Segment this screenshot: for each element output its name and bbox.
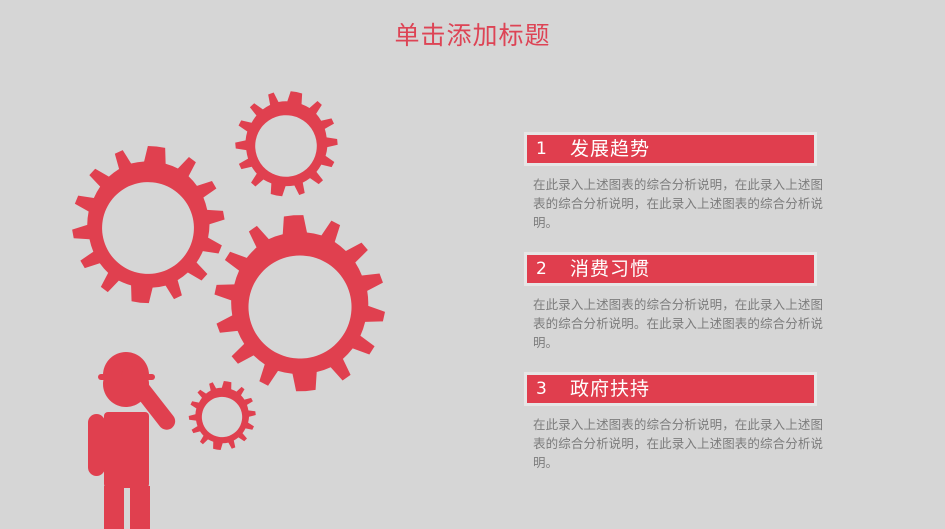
gear-top-right xyxy=(227,82,346,205)
block-title-1: 发展趋势 xyxy=(570,137,650,161)
block-number-3: 3 xyxy=(536,379,570,399)
worker-silhouette xyxy=(88,352,179,529)
block-number-2: 2 xyxy=(536,259,570,279)
content-column: 1 发展趋势 在此录入上述图表的综合分析说明，在此录入上述图表的综合分析说明，在… xyxy=(524,132,824,472)
content-block-3: 3 政府扶持 在此录入上述图表的综合分析说明，在此录入上述图表的综合分析说明，在… xyxy=(524,372,824,472)
block-body-2[interactable]: 在此录入上述图表的综合分析说明，在此录入上述图表的综合分析说明。在此录入上述图表… xyxy=(524,295,823,352)
block-number-1: 1 xyxy=(536,139,570,159)
content-block-1: 1 发展趋势 在此录入上述图表的综合分析说明，在此录入上述图表的综合分析说明，在… xyxy=(524,132,824,232)
gears-worker-illustration xyxy=(0,0,470,529)
gear-center-big xyxy=(209,209,390,397)
slide-canvas: 单击添加标题 xyxy=(0,0,945,529)
block-body-3[interactable]: 在此录入上述图表的综合分析说明，在此录入上述图表的综合分析说明，在此录入上述图表… xyxy=(524,415,823,472)
block-header-1[interactable]: 1 发展趋势 xyxy=(524,132,817,166)
block-title-2: 消费习惯 xyxy=(570,257,650,281)
block-header-3[interactable]: 3 政府扶持 xyxy=(524,372,817,406)
block-title-3: 政府扶持 xyxy=(570,377,650,401)
block-header-2[interactable]: 2 消费习惯 xyxy=(524,252,817,286)
gear-small-bottom xyxy=(184,376,260,454)
content-block-2: 2 消费习惯 在此录入上述图表的综合分析说明，在此录入上述图表的综合分析说明。在… xyxy=(524,252,824,352)
block-body-1[interactable]: 在此录入上述图表的综合分析说明，在此录入上述图表的综合分析说明，在此录入上述图表… xyxy=(524,175,823,232)
gear-large-left xyxy=(65,139,231,311)
